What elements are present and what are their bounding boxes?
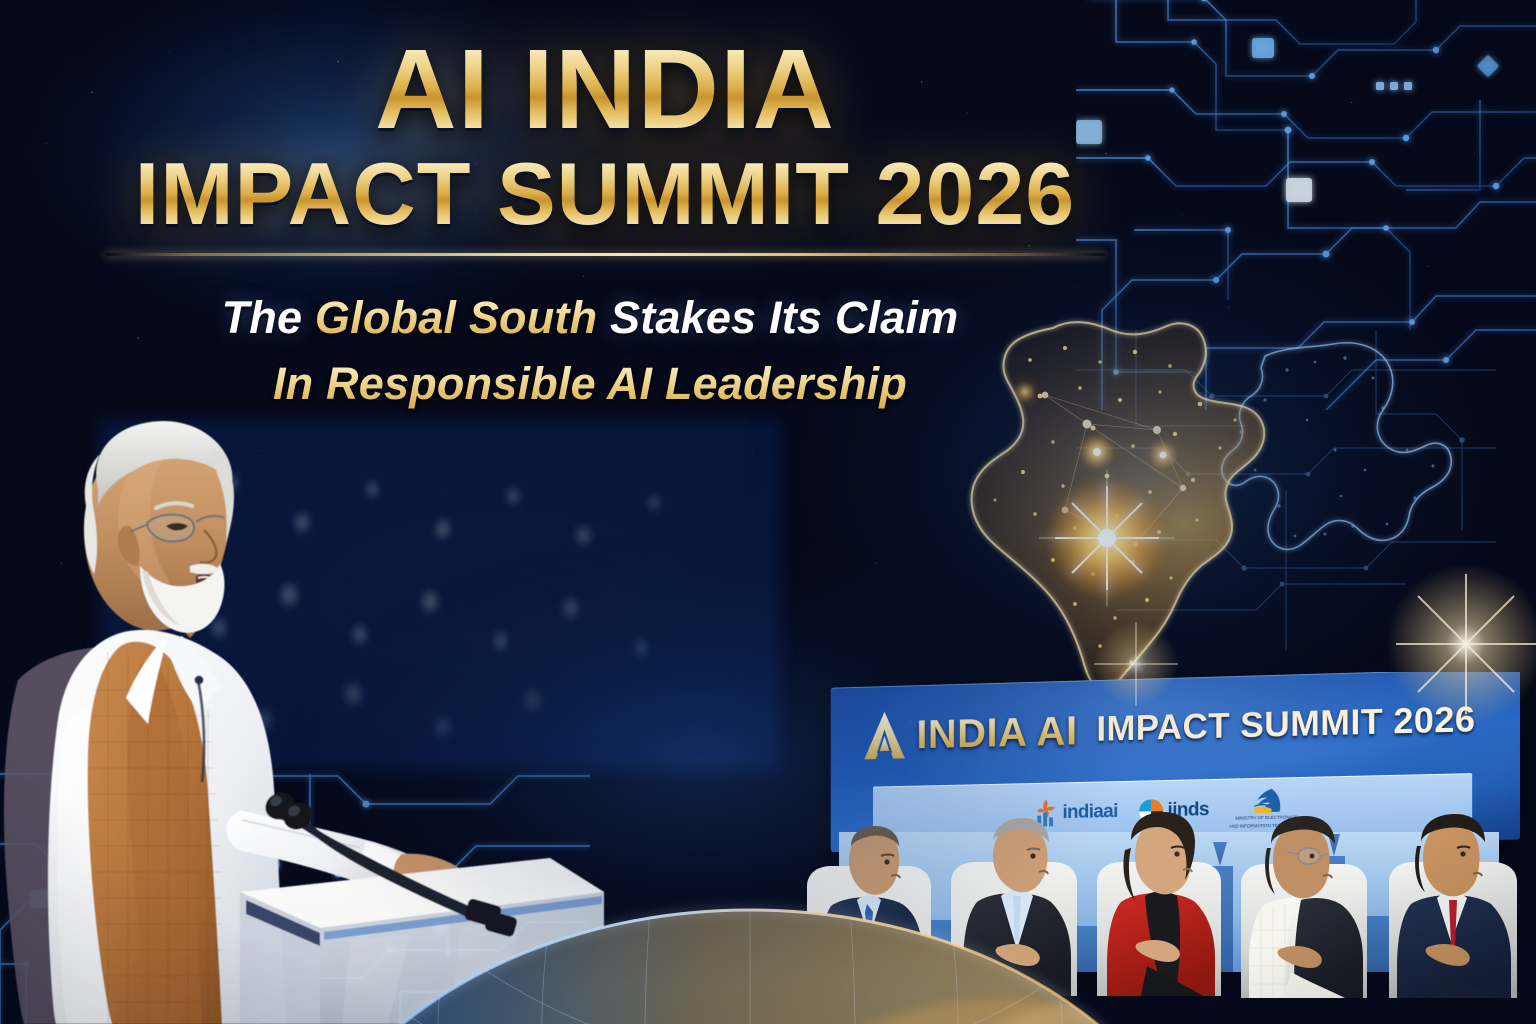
subtitle-seg-global-south: Global South — [315, 292, 610, 343]
headline-line-2: IMPACT SUMMIT 2026 — [0, 151, 1210, 237]
poster-canvas: INDIA AI IMPACT SUMMIT 2026 indiaai — [0, 0, 1536, 1024]
headline-line-1: AI INDIA — [0, 34, 1210, 145]
banner-title-gold: INDIA AI — [916, 707, 1077, 758]
subtitle-line-2: In Responsible AI Leadership — [0, 354, 1180, 414]
keynote-speaker-scene — [0, 380, 610, 1024]
subtitle-seg-the: The — [222, 292, 315, 343]
panelists-row — [795, 790, 1536, 1024]
summit-triangle-logo — [863, 709, 905, 761]
subtitle-seg-responsible-leadership: In Responsible AI Leadership — [273, 358, 907, 409]
headline-block: AI INDIA IMPACT SUMMIT 2026 — [0, 34, 1210, 256]
subtitle-block: The Global South Stakes Its Claim In Res… — [0, 288, 1180, 414]
headline-divider — [105, 253, 1105, 256]
subtitle-line-1: The Global South Stakes Its Claim — [0, 288, 1180, 348]
subtitle-seg-stakes-claim: Stakes Its Claim — [610, 292, 958, 343]
stage-area: INDIA AI IMPACT SUMMIT 2026 indiaai — [795, 672, 1536, 1024]
banner-title-cream: IMPACT SUMMIT 2026 — [1096, 700, 1475, 750]
